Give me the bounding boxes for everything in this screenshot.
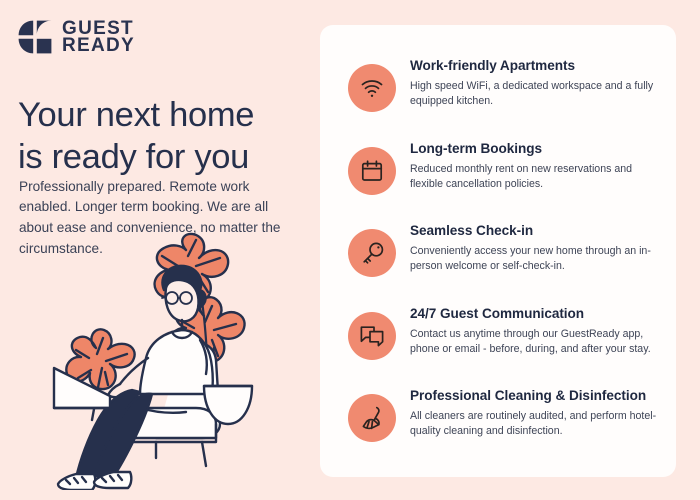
feature-description: Conveniently access your new home throug… xyxy=(410,244,658,274)
hero-column: GUEST READY Your next home is ready for … xyxy=(0,0,320,500)
logo-wordmark-line2: READY xyxy=(62,37,135,54)
feature-title: Long-term Bookings xyxy=(410,141,658,158)
wifi-icon xyxy=(348,64,396,112)
feature-description: High speed WiFi, a dedicated workspace a… xyxy=(410,79,658,109)
feature-description: All cleaners are routinely audited, and … xyxy=(410,409,658,439)
feature-text-block: 24/7 Guest Communication Contact us anyt… xyxy=(410,306,658,357)
feature-text-block: Long-term Bookings Reduced monthly rent … xyxy=(410,141,658,192)
guestready-quadrant-logo-icon xyxy=(18,20,52,54)
feature-item-professional-cleaning[interactable]: Professional Cleaning & Disinfection All… xyxy=(348,388,658,442)
calendar-icon xyxy=(348,147,396,195)
feature-title: 24/7 Guest Communication xyxy=(410,306,658,323)
feature-description: Reduced monthly rent on new reservations… xyxy=(410,162,658,192)
feature-item-work-friendly-apartments[interactable]: Work-friendly Apartments High speed WiFi… xyxy=(348,58,658,112)
feature-item-seamless-check-in[interactable]: Seamless Check-in Conveniently access yo… xyxy=(348,223,658,277)
logo-wordmark: GUEST READY xyxy=(62,20,135,55)
feature-title: Professional Cleaning & Disinfection xyxy=(410,388,658,405)
feature-item-long-term-bookings[interactable]: Long-term Bookings Reduced monthly rent … xyxy=(348,141,658,195)
feature-title: Work-friendly Apartments xyxy=(410,58,658,75)
feature-text-block: Professional Cleaning & Disinfection All… xyxy=(410,388,658,439)
key-icon xyxy=(348,229,396,277)
feature-text-block: Work-friendly Apartments High speed WiFi… xyxy=(410,58,658,109)
feature-title: Seamless Check-in xyxy=(410,223,658,240)
marketing-infographic-page: GUEST READY Your next home is ready for … xyxy=(0,0,700,500)
feature-item-guest-communication[interactable]: 24/7 Guest Communication Contact us anyt… xyxy=(348,306,658,360)
features-panel: Work-friendly Apartments High speed WiFi… xyxy=(320,25,676,477)
broom-icon xyxy=(348,394,396,442)
woman-working-on-laptop-in-armchair-with-plants-illustration xyxy=(36,228,306,490)
chat-bubbles-icon xyxy=(348,312,396,360)
feature-description: Contact us anytime through our GuestRead… xyxy=(410,327,658,357)
guestready-logo[interactable]: GUEST READY xyxy=(18,20,135,55)
page-title: Your next home is ready for you xyxy=(18,95,308,178)
feature-text-block: Seamless Check-in Conveniently access yo… xyxy=(410,223,658,274)
